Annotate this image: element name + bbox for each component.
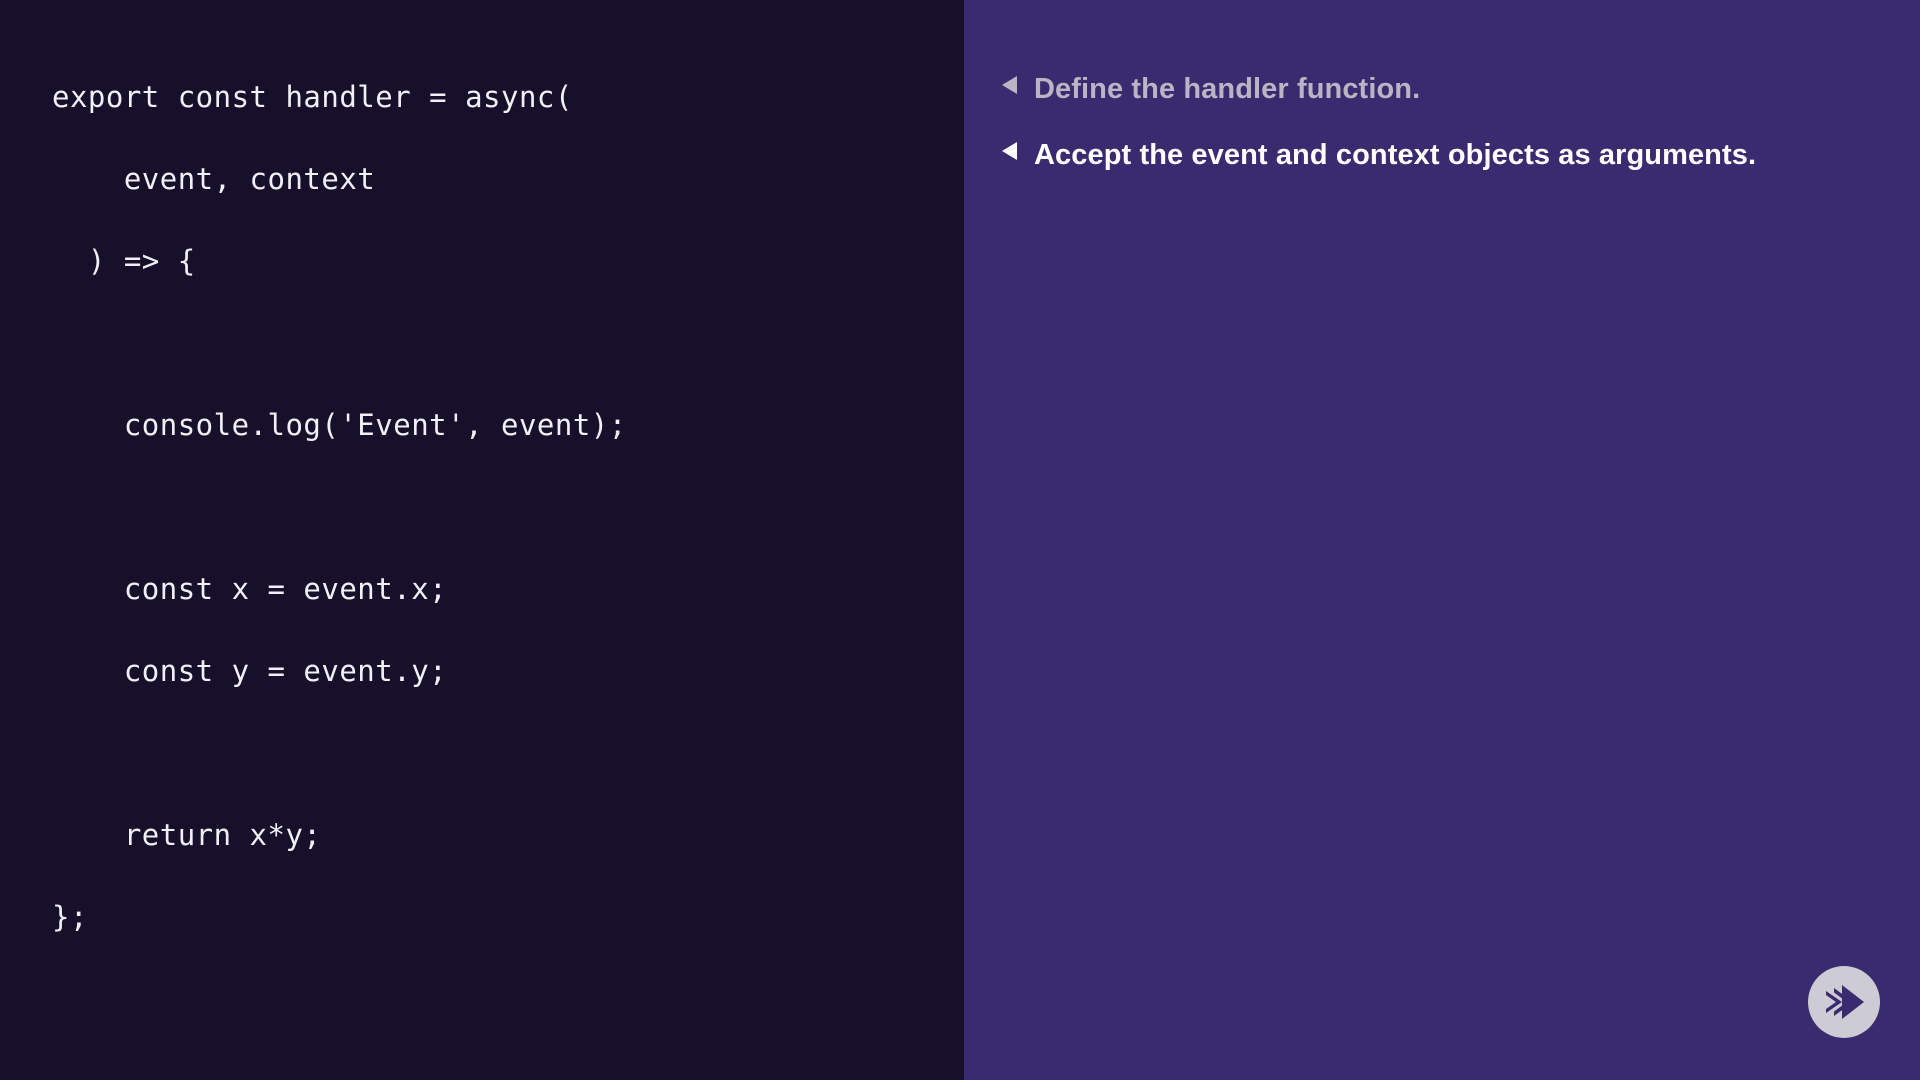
code-line: event, context <box>52 138 964 220</box>
code-line: return x*y; <box>52 794 964 876</box>
left-triangle-icon <box>1002 142 1018 160</box>
code-pane: export const handler = async( event, con… <box>0 0 964 1080</box>
code-line: console.log('Event', event); <box>52 384 964 466</box>
code-line-blank <box>52 712 964 794</box>
code-line-blank <box>52 302 964 384</box>
code-line-blank <box>52 466 964 548</box>
code-block: export const handler = async( event, con… <box>0 56 964 958</box>
slide-root: export const handler = async( event, con… <box>0 0 1920 1080</box>
left-triangle-icon <box>1002 76 1018 94</box>
code-line: ) => { <box>52 220 964 302</box>
code-line: export const handler = async( <box>52 56 964 138</box>
note-text: Accept the event and context objects as … <box>1034 128 1756 182</box>
note-item: Define the handler function. <box>1002 62 1850 116</box>
code-line: const x = event.x; <box>52 548 964 630</box>
note-text: Define the handler function. <box>1034 62 1420 116</box>
notes-pane: Define the handler function. Accept the … <box>964 0 1920 1080</box>
note-item: Accept the event and context objects as … <box>1002 128 1850 182</box>
double-play-logo-icon <box>1808 966 1880 1038</box>
code-line: }; <box>52 876 964 958</box>
code-line: const y = event.y; <box>52 630 964 712</box>
